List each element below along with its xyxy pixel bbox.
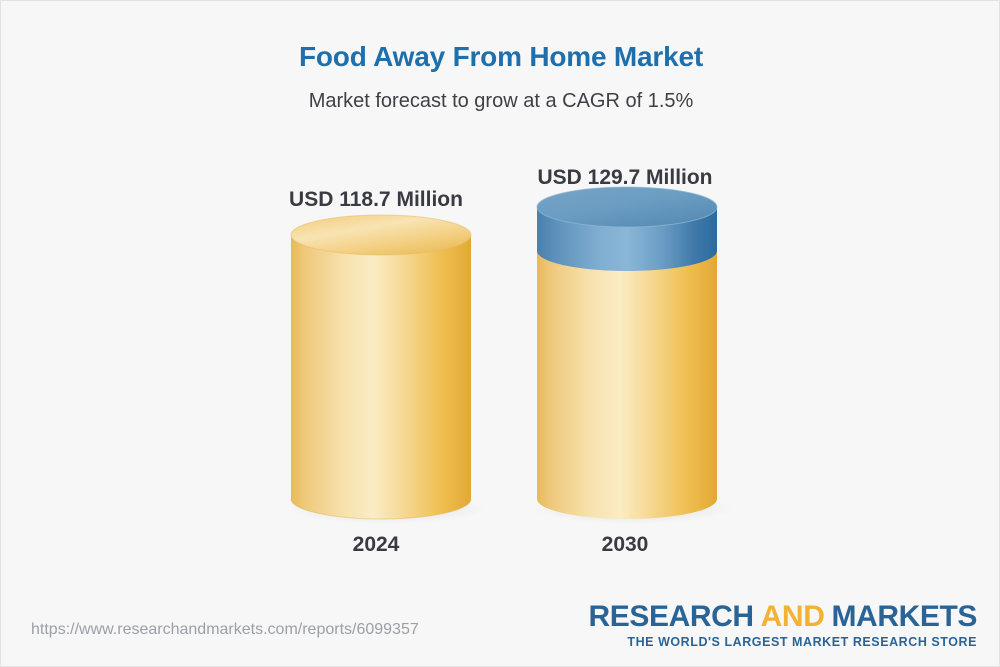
logo-tagline: THE WORLD'S LARGEST MARKET RESEARCH STOR… [589,635,977,649]
report-url[interactable]: https://www.researchandmarkets.com/repor… [31,621,419,639]
logo-word-research: RESEARCH [589,600,754,633]
bar-cylinder-2030 [525,185,729,533]
bar-cylinder-2024 [279,213,483,533]
chart-page: Food Away From Home Market Market foreca… [0,0,1000,667]
bar-value-label-2024: USD 118.7 Million [216,188,536,212]
logo-wordmark: RESEARCHANDMARKETS [589,601,977,633]
chart-plot-area: USD 118.7 Million USD 129.7 Million [1,1,1000,601]
logo-word-markets: MARKETS [831,600,977,633]
x-axis-label-2030: 2030 [465,533,785,557]
logo-word-and: AND [761,600,825,633]
brand-logo[interactable]: RESEARCHANDMARKETS THE WORLD'S LARGEST M… [589,601,977,649]
